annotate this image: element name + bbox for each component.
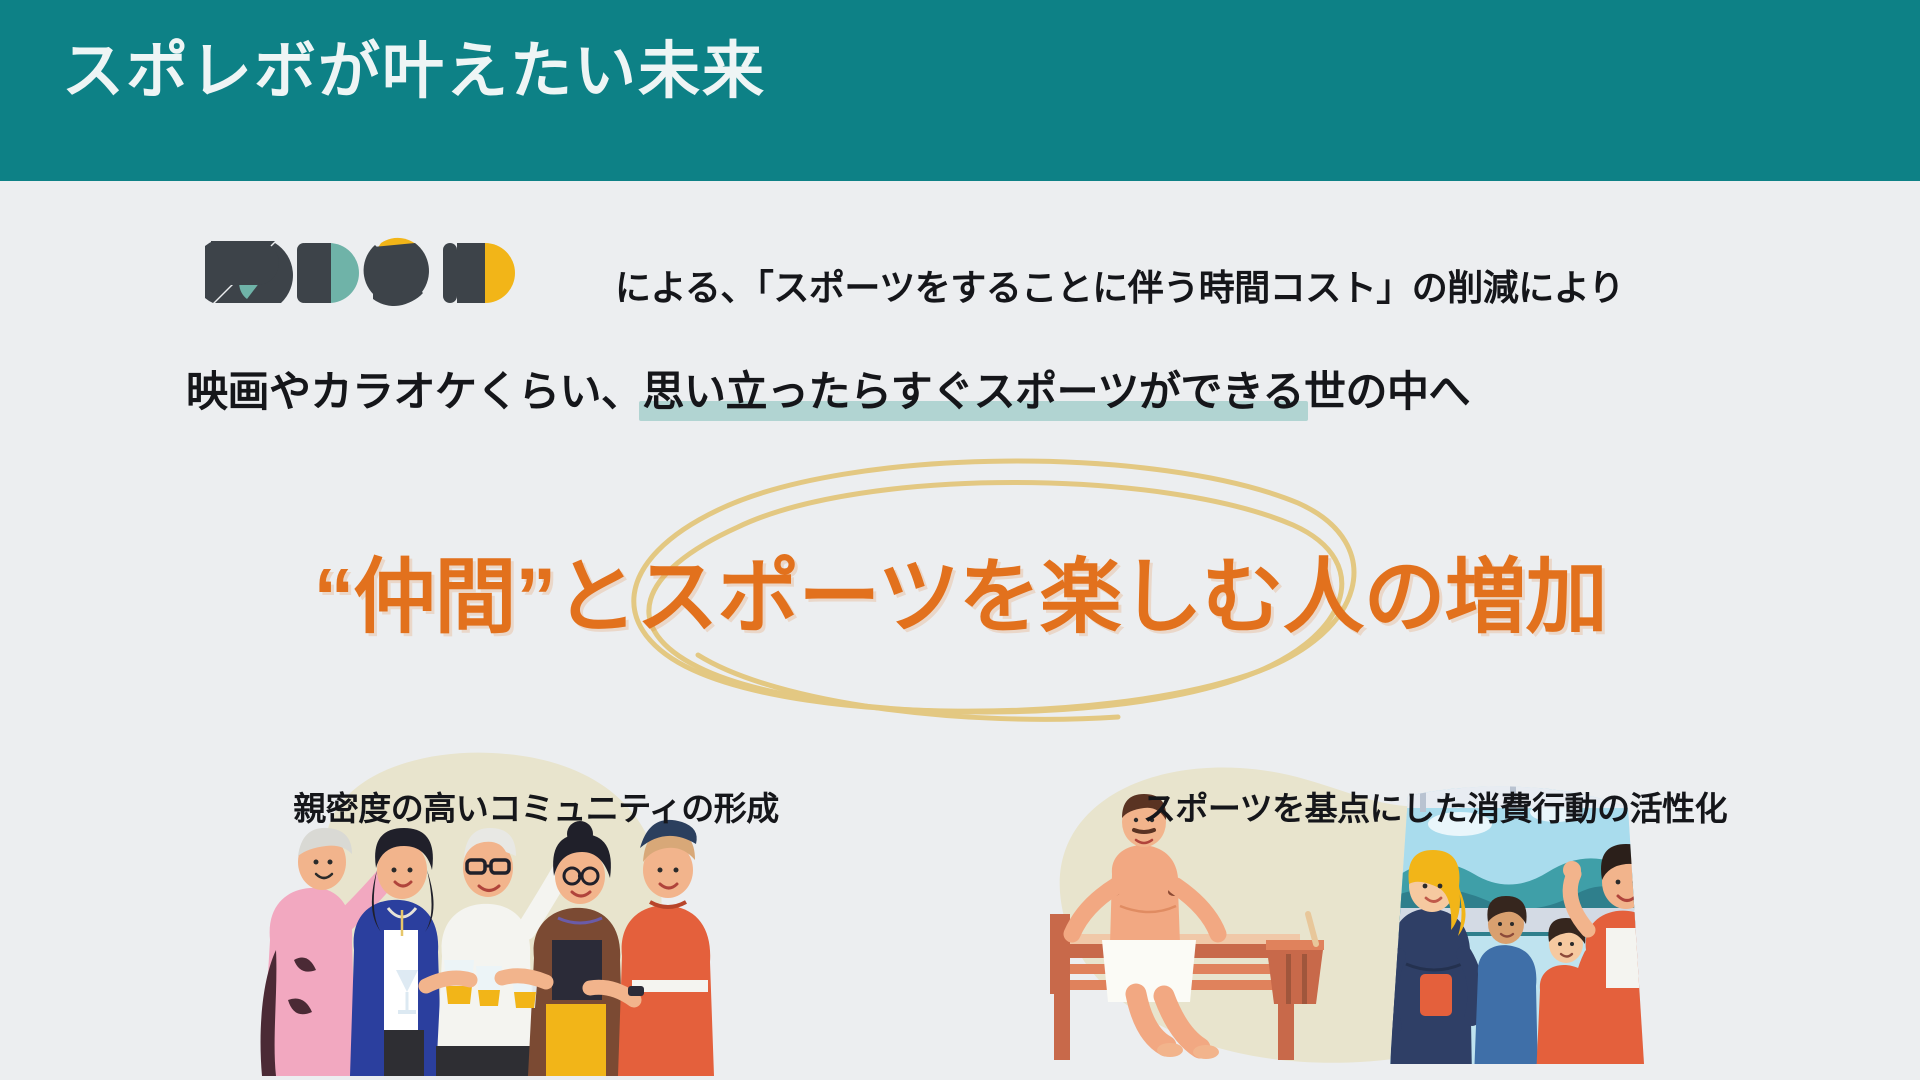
logo-mark <box>205 233 595 313</box>
lead-line-2-highlight: 思い立ったらすぐスポーツができる <box>643 358 1304 419</box>
group-of-friends-illustration <box>236 790 716 1080</box>
sporevo-logo <box>205 233 595 313</box>
lead-line-2: 映画やカラオケくらい、思い立ったらすぐスポーツができる世の中へ <box>186 358 1470 419</box>
slide-root: スポレボが叶えたい未来 による、「スポーツをすることに伴う時間コスト」の削減によ… <box>0 0 1920 1080</box>
panel-consumption-caption: スポーツを基点にした消費行動の活性化 <box>1020 782 1850 830</box>
page-title: スポレボが叶えたい未来 <box>62 36 766 107</box>
lead-line-2-suffix: 世の中へ <box>1304 368 1470 415</box>
panel-community-caption: 親密度の高いコミュニティの形成 <box>216 782 856 830</box>
lead-line-1: による、「スポーツをすることに伴う時間コスト」の削減により <box>615 259 1624 311</box>
main-headline: “仲間”とスポーツを楽しむ人の増加 <box>0 530 1920 649</box>
header-bar: スポレボが叶えたい未来 <box>0 0 1920 181</box>
sauna-illustration <box>1040 794 1360 1064</box>
lead-line-2-prefix: 映画やカラオケくらい、 <box>186 368 643 415</box>
